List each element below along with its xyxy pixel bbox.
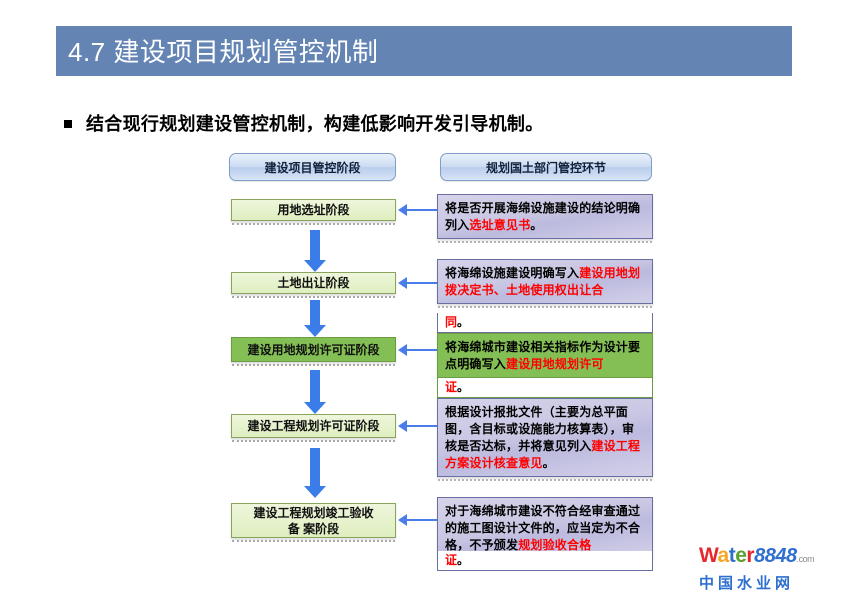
connector-arrow-3: [398, 344, 438, 356]
logo-letter-e: e: [735, 544, 746, 567]
logo-wordmark: Water8848.com: [699, 545, 839, 570]
note-box-5-tail: 证。: [437, 551, 653, 571]
note-2-pre: 将海绵设施建设明确写入: [445, 266, 579, 280]
note-box-5: 对于海绵城市建设不符合经审查通过 的施工图设计文件的，应当定为不合 格，不予颁发…: [437, 497, 653, 559]
down-arrow-2: [304, 300, 326, 340]
stage-box-2: 土地出让阶段: [231, 272, 396, 294]
stage-label-5-line1: 建设工程规划竣工验收: [253, 506, 373, 520]
logo-letter-a: a: [718, 544, 729, 567]
note-box-3: 将海绵城市建设相关指标作为设计要 点明确写入建设用地规划许可: [437, 333, 653, 378]
stage-box-1: 用地选址阶段: [231, 199, 396, 221]
note-box-1: 将是否开展海绵设施建设的结论明确 列入选址意见书。: [437, 194, 653, 239]
stage-label-3: 建设用地规划许可证阶段: [247, 342, 379, 358]
down-arrow-1: [304, 230, 326, 272]
note-3-highlight: 建设用地规划许可: [506, 357, 604, 371]
logo-letter-r: r: [746, 544, 754, 567]
note-box-4: 根据设计报批文件（主要为总平面 图，含目标或设施能力核算表），审 核是否达标，并…: [437, 398, 653, 477]
note-box-2: 将海绵设施建设明确写入建设用地划 拨决定书、土地使用权出让合: [437, 259, 653, 304]
logo-number: 8848: [754, 545, 797, 567]
down-arrow-4: [304, 448, 326, 500]
note-3-tail: 。: [457, 380, 469, 394]
flowchart: 建设项目管控阶段 规划国土部门管控环节 用地选址阶段 土地出让阶段 建设用地规划…: [0, 0, 842, 595]
stage-box-3: 建设用地规划许可证阶段: [231, 337, 396, 362]
stage-label-5: 建设工程规划竣工验收 备 案阶段: [253, 505, 373, 537]
note-3-tail-highlight: 证: [445, 380, 457, 394]
slide-canvas: 4.7 建设项目规划管控机制 结合现行规划建设管控机制，构建低影响开发引导机制。…: [0, 0, 842, 595]
note-5-tail-highlight: 证: [445, 553, 457, 567]
note-1-highlight: 选址意见书: [469, 218, 530, 232]
stage-label-5-line2: 备 案阶段: [288, 522, 339, 536]
logo-chinese-name: 中国水业网: [699, 572, 839, 593]
connector-arrow-1: [398, 204, 438, 216]
connector-arrow-4: [398, 420, 438, 432]
note-4-post: 。: [543, 456, 555, 470]
note-2-tail-highlight: 同: [445, 315, 457, 329]
stage-box-5: 建设工程规划竣工验收 备 案阶段: [231, 503, 396, 538]
note-box-2-tail: 同。: [437, 313, 653, 333]
stage-label-1: 用地选址阶段: [277, 202, 349, 218]
note-1-post: 。: [530, 218, 542, 232]
column-header-left: 建设项目管控阶段: [229, 153, 396, 181]
column-header-right: 规划国土部门管控环节: [440, 153, 652, 181]
down-arrow-3: [304, 370, 326, 415]
note-box-3-tail: 证。: [437, 378, 653, 398]
stage-label-4: 建设工程规划许可证阶段: [247, 418, 379, 434]
watermark-logo: Water8848.com 中国水业网: [699, 545, 839, 593]
stage-box-4: 建设工程规划许可证阶段: [231, 414, 396, 438]
connector-arrow-5: [398, 514, 438, 526]
note-5-tail: 。: [457, 553, 469, 567]
stage-label-2: 土地出让阶段: [277, 275, 349, 291]
logo-domain: .com: [797, 554, 815, 564]
note-5-highlight: 规划验收合格: [518, 538, 591, 552]
note-2-tail: 。: [457, 315, 469, 329]
connector-arrow-2: [398, 277, 438, 289]
logo-letter-w: W: [699, 544, 718, 567]
